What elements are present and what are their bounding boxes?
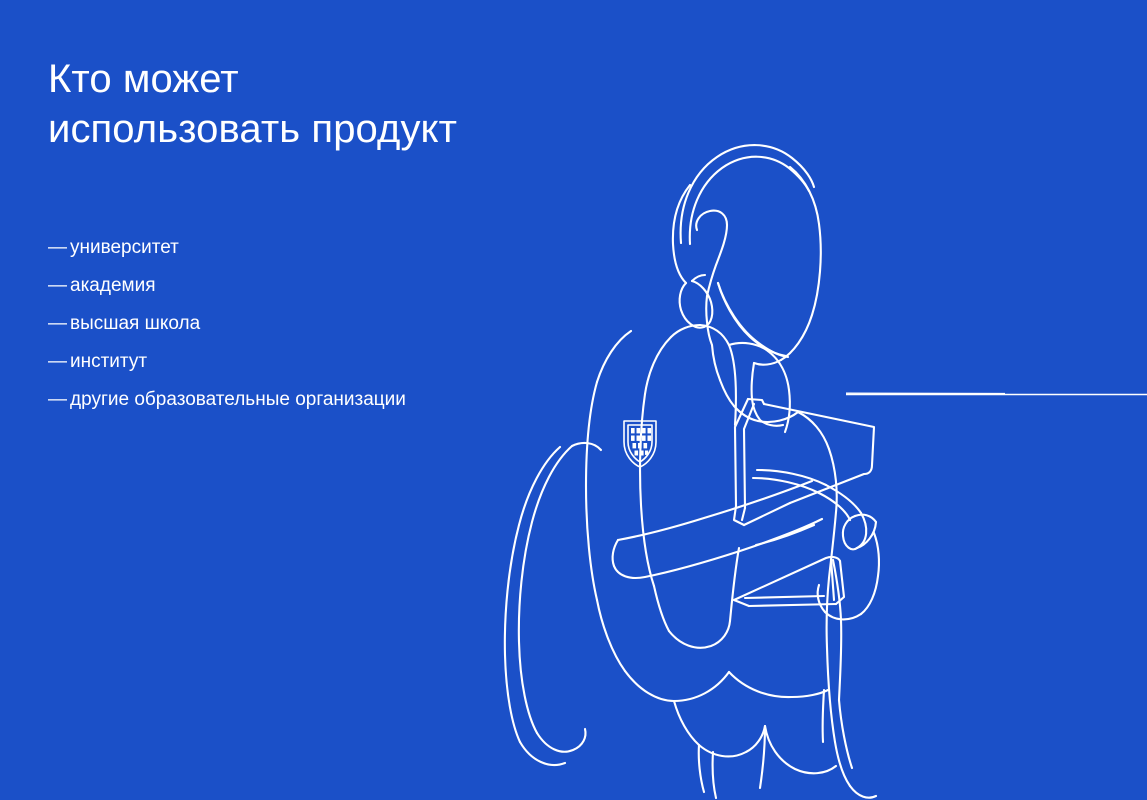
list-item: — академия [48, 272, 448, 299]
dash-icon: — [48, 310, 70, 337]
list-item-label: институт [70, 348, 448, 375]
torso-icon [674, 412, 876, 798]
list-item-label: академия [70, 272, 448, 299]
books-icon [734, 399, 874, 606]
backpack-icon [505, 325, 739, 765]
list-item: — университет [48, 234, 448, 261]
page-title: Кто может использовать продукт [48, 54, 478, 154]
dash-icon: — [48, 272, 70, 299]
backpack-strap-icon [729, 343, 790, 432]
audience-list: — университет — академия — высшая школа … [48, 234, 448, 413]
head-icon [712, 167, 821, 426]
dash-icon: — [48, 234, 70, 261]
legs-icon [699, 690, 824, 798]
list-item: — высшая школа [48, 310, 448, 337]
dash-icon: — [48, 348, 70, 375]
list-item: — другие образовательные организации [48, 386, 448, 413]
shield-badge-icon [624, 421, 656, 467]
list-item-label: высшая школа [70, 310, 448, 337]
list-item-label: другие образовательные организации [70, 386, 448, 413]
crossed-arms-icon [613, 470, 879, 619]
slide-canvas: Кто может использовать продукт — универс… [0, 0, 1147, 800]
list-item: — институт [48, 348, 448, 375]
text-column: Кто может использовать продукт [48, 54, 478, 154]
horizon-line [846, 393, 1147, 394]
list-item-label: университет [70, 234, 448, 261]
headphones-icon [673, 145, 814, 345]
dash-icon: — [48, 386, 70, 413]
